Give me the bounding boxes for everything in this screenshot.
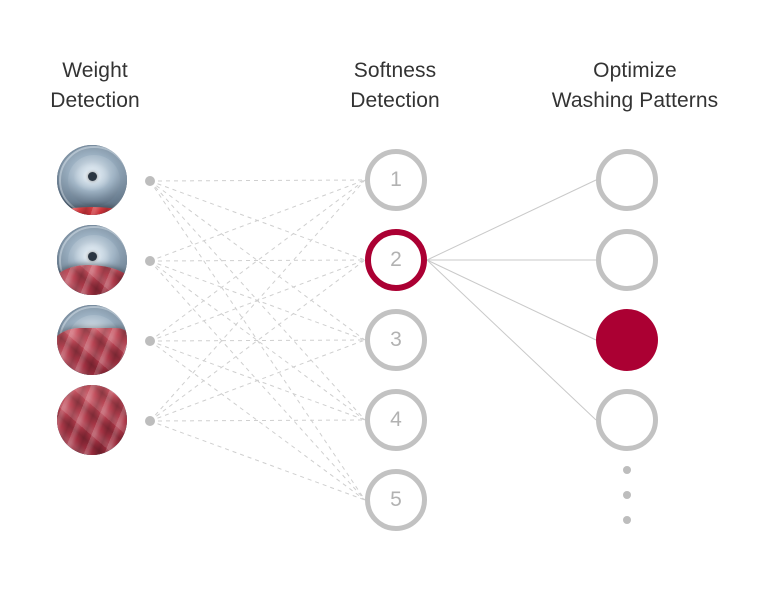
edges-input-to-hidden — [150, 180, 365, 500]
edge-hidden-output — [427, 260, 596, 340]
softness-node-3[interactable]: 3 — [365, 309, 427, 371]
edge-input-hidden — [150, 341, 365, 500]
edge-hidden-output — [427, 260, 596, 420]
column-title-weight-detection: Weight Detection — [0, 56, 190, 116]
output-ellipsis-dot — [623, 466, 631, 474]
edge-input-hidden — [150, 340, 365, 421]
edge-input-hidden — [150, 181, 365, 340]
edge-input-hidden — [150, 261, 365, 500]
softness-node-4[interactable]: 4 — [365, 389, 427, 451]
edge-input-hidden — [150, 181, 365, 500]
column-title-softness-detection: Softness Detection — [300, 56, 490, 116]
drum-half-load-thumbnail[interactable] — [57, 225, 127, 295]
washing-pattern-node-3[interactable] — [596, 309, 658, 371]
input-connector-dot — [145, 176, 155, 186]
input-connector-dot — [145, 416, 155, 426]
edge-input-hidden — [150, 260, 365, 261]
washing-pattern-node-1[interactable] — [596, 149, 658, 211]
drum-full-load-thumbnail[interactable] — [57, 385, 127, 455]
drum-empty-thumbnail[interactable] — [57, 145, 127, 215]
drum-mostly-load-thumbnail[interactable] — [57, 305, 127, 375]
input-connector-dot — [145, 336, 155, 346]
laundry-fabric-icon — [57, 207, 127, 215]
edge-input-hidden — [150, 181, 365, 260]
softness-node-5[interactable]: 5 — [365, 469, 427, 531]
softness-node-1[interactable]: 1 — [365, 149, 427, 211]
edge-input-hidden — [150, 261, 365, 420]
edge-input-hidden — [150, 180, 365, 341]
edge-input-hidden — [150, 181, 365, 420]
laundry-fabric-icon — [57, 328, 127, 375]
washing-pattern-node-4[interactable] — [596, 389, 658, 451]
edge-input-hidden — [150, 420, 365, 421]
input-connector-dot — [145, 256, 155, 266]
edge-input-hidden — [150, 180, 365, 181]
edge-input-hidden — [150, 260, 365, 341]
washing-pattern-node-2[interactable] — [596, 229, 658, 291]
edge-hidden-output — [427, 180, 596, 260]
edge-input-hidden — [150, 260, 365, 421]
laundry-fabric-icon — [57, 385, 127, 455]
output-ellipsis-dot — [623, 516, 631, 524]
edge-input-hidden — [150, 180, 365, 261]
column-title-optimize-washing-patterns: Optimize Washing Patterns — [520, 56, 750, 116]
edge-input-hidden — [150, 340, 365, 341]
edge-input-hidden — [150, 180, 365, 421]
output-ellipsis-dot — [623, 491, 631, 499]
edge-input-hidden — [150, 341, 365, 420]
laundry-fabric-icon — [57, 265, 127, 295]
neural-network-diagram: Weight Detection Softness Detection Opti… — [0, 0, 768, 600]
edge-input-hidden — [150, 421, 365, 500]
edge-input-hidden — [150, 261, 365, 340]
edges-hidden-to-output — [427, 180, 596, 420]
washing-drum-icon — [57, 145, 127, 215]
softness-node-2[interactable]: 2 — [365, 229, 427, 291]
